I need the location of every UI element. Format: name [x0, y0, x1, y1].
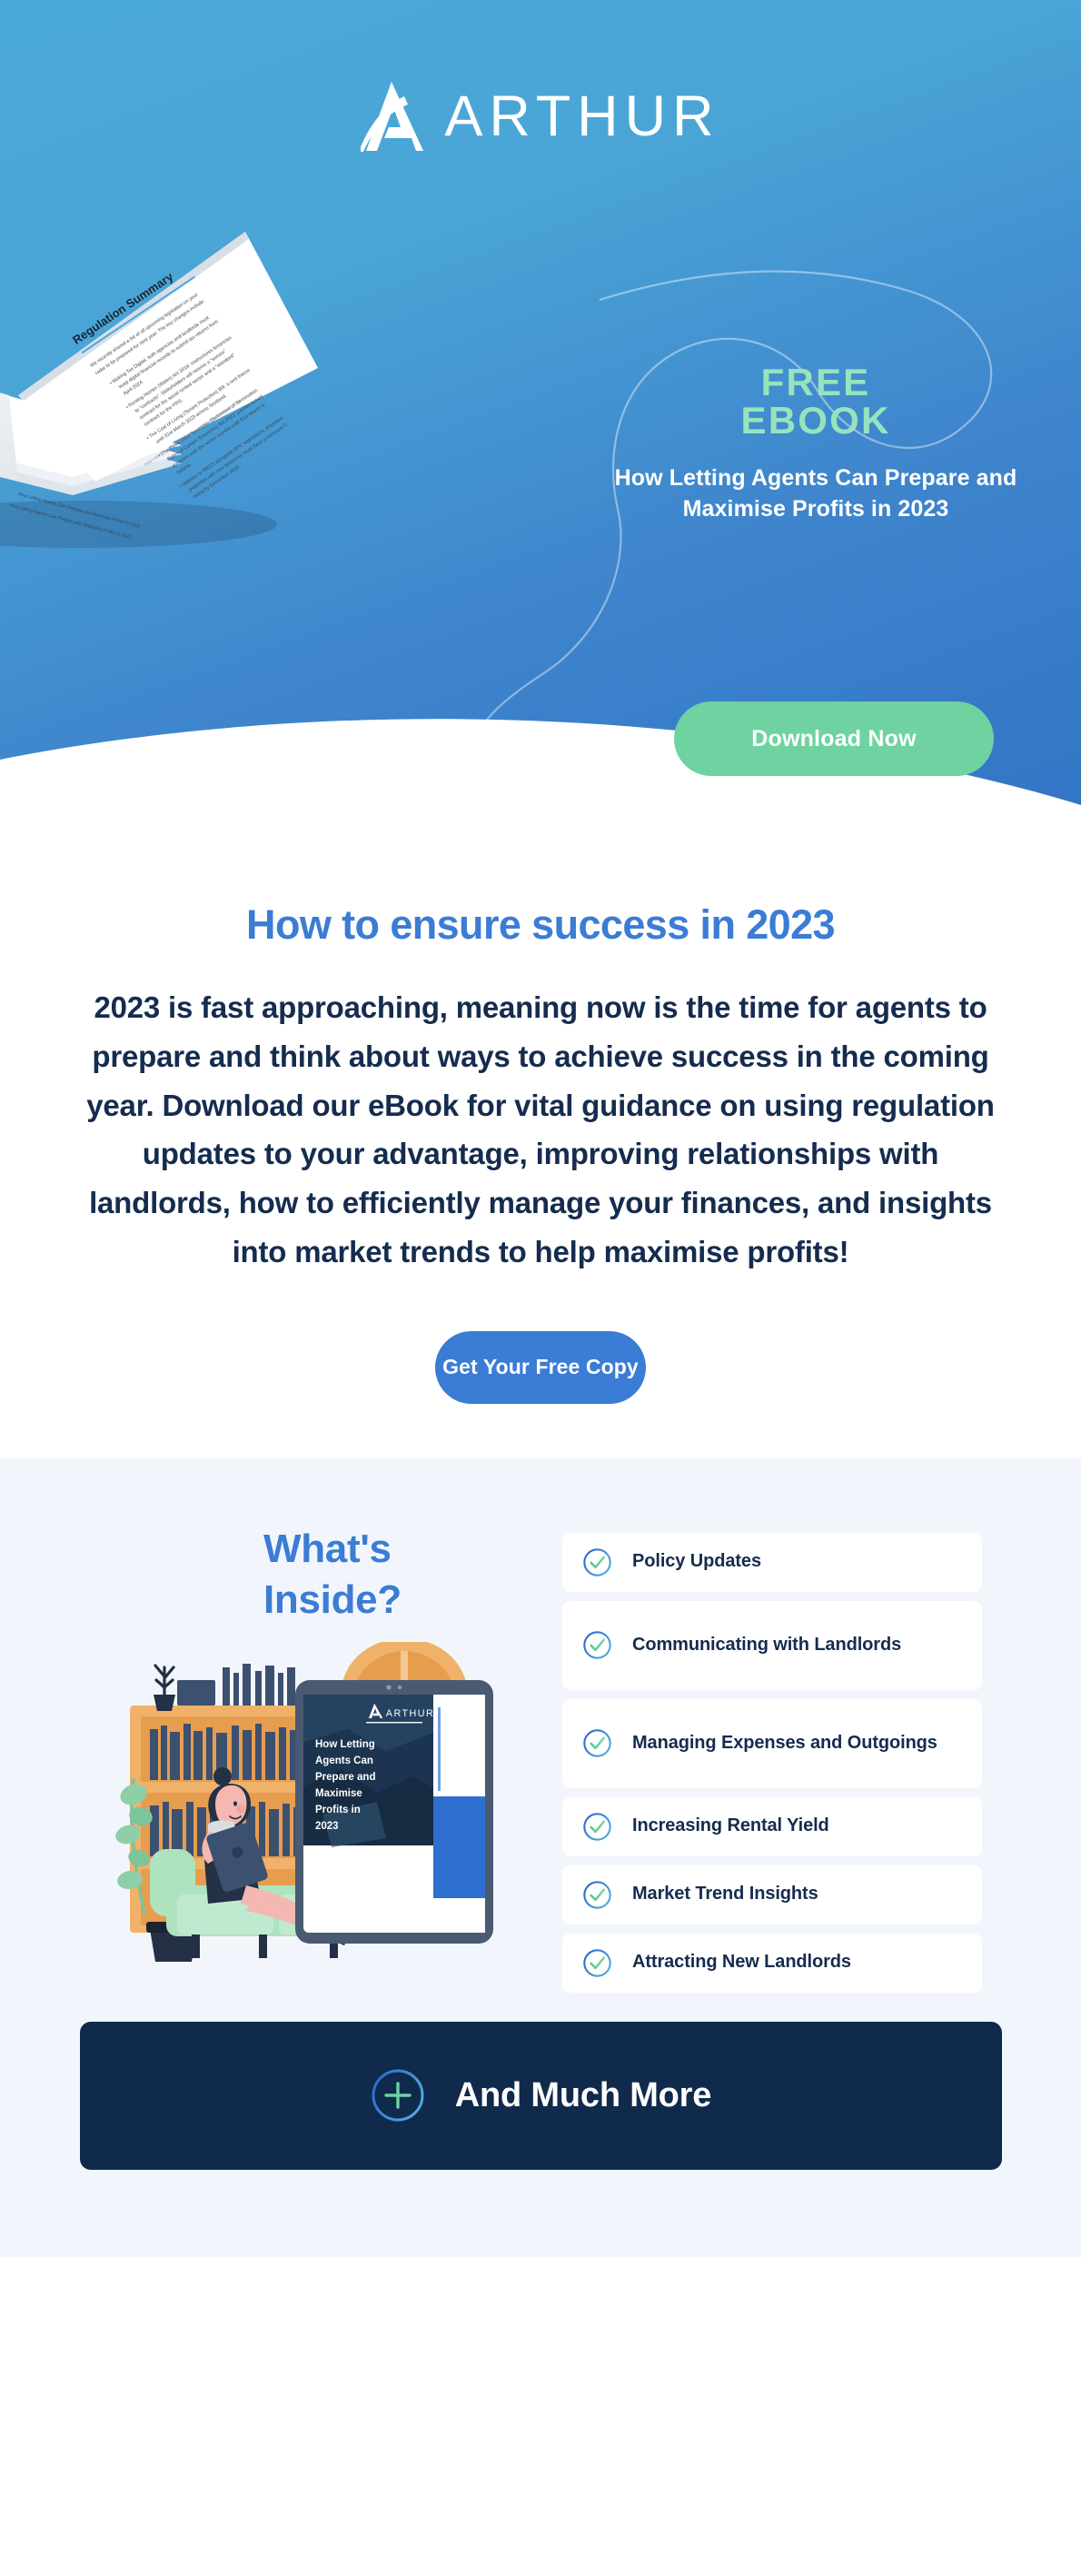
svg-text:ARTHUR: ARTHUR [386, 1709, 434, 1720]
check-circle-icon [582, 1630, 612, 1660]
page-title: How to ensure success in 2023 [0, 863, 1081, 949]
check-circle-icon [582, 1547, 612, 1577]
get-copy-button-wrap: Get Your Free Copy [0, 1331, 1081, 1404]
svg-text:Maximise: Maximise [315, 1788, 362, 1799]
svg-text:2023: 2023 [315, 1821, 339, 1832]
list-item-label: Increasing Rental Yield [632, 1814, 829, 1838]
ebook-book-illustration: Regulation Summary We recently shared a … [0, 223, 445, 550]
svg-text:Profits in: Profits in [315, 1805, 361, 1815]
svg-text:Prepare and: Prepare and [315, 1772, 375, 1783]
success-section: How to ensure success in 2023 2023 is fa… [0, 863, 1081, 1458]
brand-logo: ARTHUR [0, 80, 1081, 153]
list-item[interactable]: Policy Updates [562, 1533, 982, 1592]
hero-eyebrow: FREE EBOOK [589, 363, 1043, 440]
check-circle-icon [582, 1812, 612, 1842]
list-item[interactable]: Communicating with Landlords [562, 1601, 982, 1690]
svg-text:Agents Can: Agents Can [315, 1755, 373, 1766]
landing-page: ARTHUR [0, 0, 1081, 2576]
check-circle-icon [582, 1948, 612, 1978]
whats-inside-section: What's Inside? [0, 1458, 1081, 2257]
list-item-label: Attracting New Landlords [632, 1950, 851, 1974]
whats-inside-left: What's Inside? [41, 1524, 550, 1984]
svg-text:How Letting: How Letting [315, 1739, 375, 1750]
list-item[interactable]: Managing Expenses and Outgoings [562, 1699, 982, 1788]
woman-reading-tablet-illustration: ARTHUR How Letting Agents Can Prepare an… [114, 1642, 531, 1983]
brand-logo-text: ARTHUR [444, 88, 719, 145]
check-circle-icon [582, 1728, 612, 1758]
list-item-label: Managing Expenses and Outgoings [632, 1731, 937, 1755]
hero-subtitle: How Letting Agents Can Prepare and Maxim… [589, 463, 1043, 525]
and-much-more-label: And Much More [455, 2076, 711, 2115]
hero-eyebrow-line-2: EBOOK [589, 402, 1043, 440]
whats-inside-title-line-2: Inside? [263, 1577, 402, 1622]
hero-section: ARTHUR [0, 0, 1081, 863]
hero-copy: FREE EBOOK How Letting Agents Can Prepar… [589, 363, 1043, 525]
list-item-label: Policy Updates [632, 1549, 761, 1574]
whats-inside-title: What's Inside? [209, 1524, 436, 1626]
check-circle-icon [582, 1880, 612, 1910]
plus-circle-icon [370, 2067, 426, 2123]
get-your-free-copy-button[interactable]: Get Your Free Copy [435, 1331, 646, 1404]
and-much-more-banner[interactable]: And Much More [80, 2022, 1002, 2170]
whats-inside-grid: What's Inside? [41, 1524, 1040, 2002]
list-item[interactable]: Increasing Rental Yield [562, 1797, 982, 1856]
whats-inside-title-line-1: What's [263, 1527, 392, 1571]
download-now-button[interactable]: Download Now [674, 701, 994, 776]
intro-paragraph: 2023 is fast approaching, meaning now is… [86, 983, 995, 1277]
arthur-a-logo-icon [361, 80, 424, 153]
list-item[interactable]: Attracting New Landlords [562, 1934, 982, 1993]
list-item-label: Communicating with Landlords [632, 1633, 901, 1657]
whats-inside-list: Policy Updates Communicating with Landlo… [562, 1524, 982, 2002]
list-item-label: Market Trend Insights [632, 1882, 818, 1906]
hero-eyebrow-line-1: FREE [589, 363, 1043, 402]
list-item[interactable]: Market Trend Insights [562, 1865, 982, 1925]
